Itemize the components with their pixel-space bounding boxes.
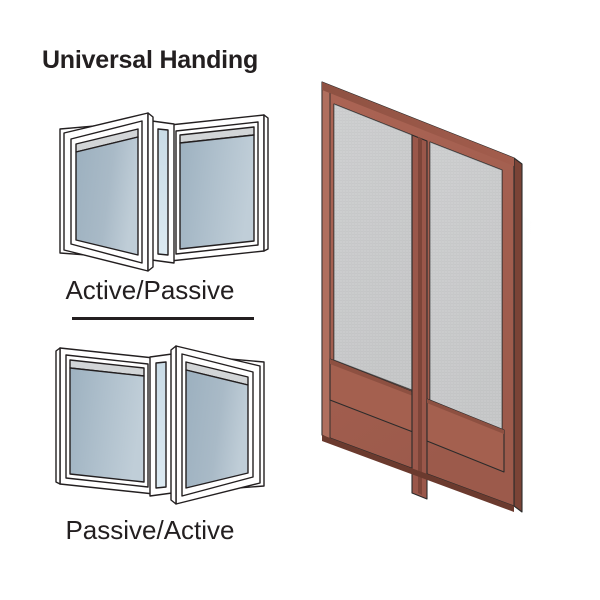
passive-leaf-left (56, 348, 154, 494)
page-title: Universal Handing (0, 48, 300, 73)
center-mullion (150, 354, 172, 496)
frame-depth-right (514, 158, 522, 512)
center-meeting-stile (412, 135, 427, 499)
universal-handing-illustration: Universal Handing (0, 0, 600, 600)
active-leaf-right (171, 346, 264, 504)
door-product-render (300, 0, 600, 600)
handing-diagram-passive-active (52, 336, 272, 511)
handing-options-column: Universal Handing (0, 0, 300, 600)
door-leaf-right (427, 142, 504, 472)
door-unit-passive-active (56, 346, 264, 504)
active-leaf-left (60, 113, 153, 271)
door-leaf-left (330, 104, 413, 432)
door-unit-active-passive (60, 113, 268, 271)
handing-diagram-active-passive (52, 103, 272, 278)
caption-active-passive: Active/Passive (0, 277, 300, 303)
patio-door-assembly (322, 82, 522, 512)
center-mullion (152, 121, 174, 263)
frame-left-jamb (322, 82, 330, 439)
caption-passive-active: Passive/Active (0, 517, 300, 543)
passive-leaf-right (170, 115, 268, 261)
section-divider (72, 317, 254, 320)
